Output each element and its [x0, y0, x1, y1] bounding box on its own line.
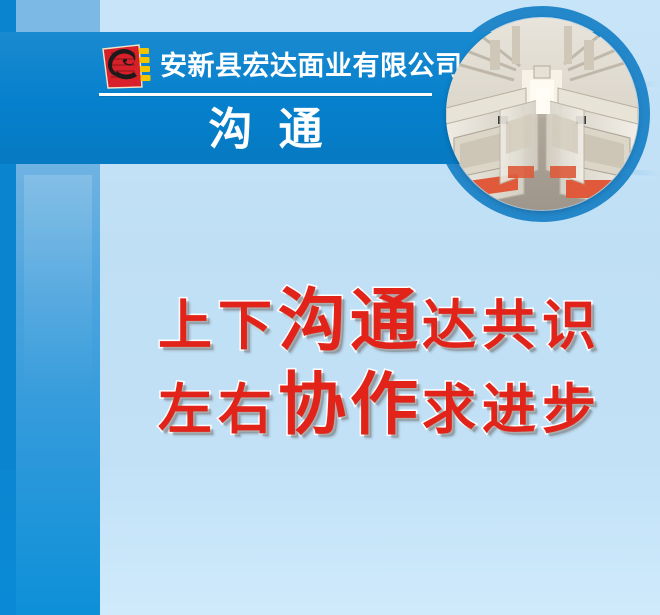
page-title: 沟通 — [99, 104, 432, 156]
header-divider — [99, 93, 432, 96]
slogan-line-1: 上下 沟通 达共识 — [100, 285, 660, 359]
left-edge-stripe-lower — [0, 470, 16, 615]
sidebar-highlight — [24, 175, 92, 390]
poster-canvas: 安新县宏达面业有限公司 沟通 — [0, 0, 660, 615]
slogan-line-2: 左右 协作 求进步 — [100, 369, 660, 443]
slogan-line1-emphasis: 沟通 — [278, 285, 422, 359]
slogan-line2-lead: 左右 — [158, 379, 278, 441]
slogan-line2-tail: 求进步 — [422, 379, 602, 441]
slogan-line1-tail: 达共识 — [422, 295, 602, 357]
company-logo-icon — [101, 43, 153, 90]
company-name: 安新县宏达面业有限公司 — [160, 48, 440, 86]
factory-photo — [446, 18, 638, 210]
slogan-block: 上下 沟通 达共识 左右 协作 求进步 — [100, 285, 660, 443]
top-left-stripe — [16, 0, 100, 32]
slogan-line1-lead: 上下 — [158, 295, 278, 357]
slogan-line2-emphasis: 协作 — [278, 369, 422, 443]
